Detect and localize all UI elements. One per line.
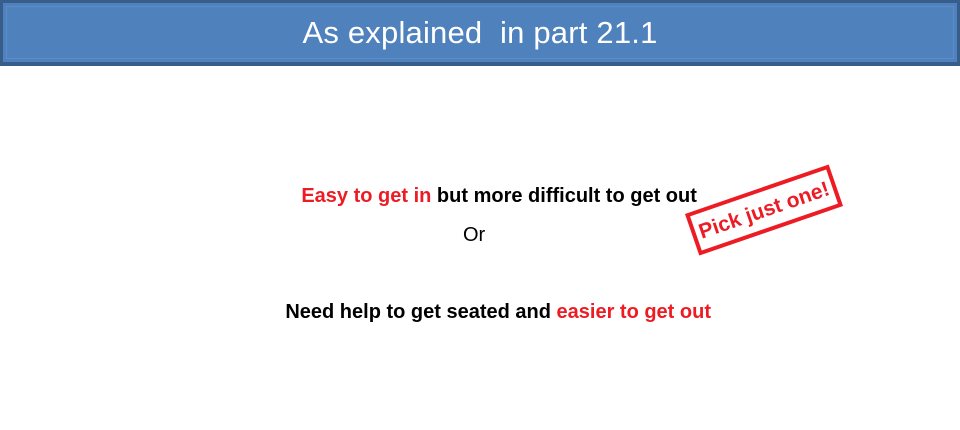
slide-canvas: As explained in part 21.1 Easy to get in…: [0, 0, 960, 430]
body-line-3: Need help to get seated and easier to ge…: [252, 282, 711, 342]
body-line-1-black-segment: but more difficult to get out: [431, 185, 697, 207]
slide-body: Easy to get in but more difficult to get…: [0, 66, 960, 430]
body-line-2-or: Or: [463, 225, 485, 245]
page-title: As explained in part 21.1: [302, 17, 657, 48]
body-line-1-red-segment: Easy to get in: [301, 185, 431, 207]
body-line-1: Easy to get in but more difficult to get…: [268, 166, 697, 226]
body-line-3-black-segment: Need help to get seated and: [285, 301, 556, 323]
body-line-3-red-segment: easier to get out: [557, 301, 711, 323]
title-banner: As explained in part 21.1: [0, 0, 960, 66]
